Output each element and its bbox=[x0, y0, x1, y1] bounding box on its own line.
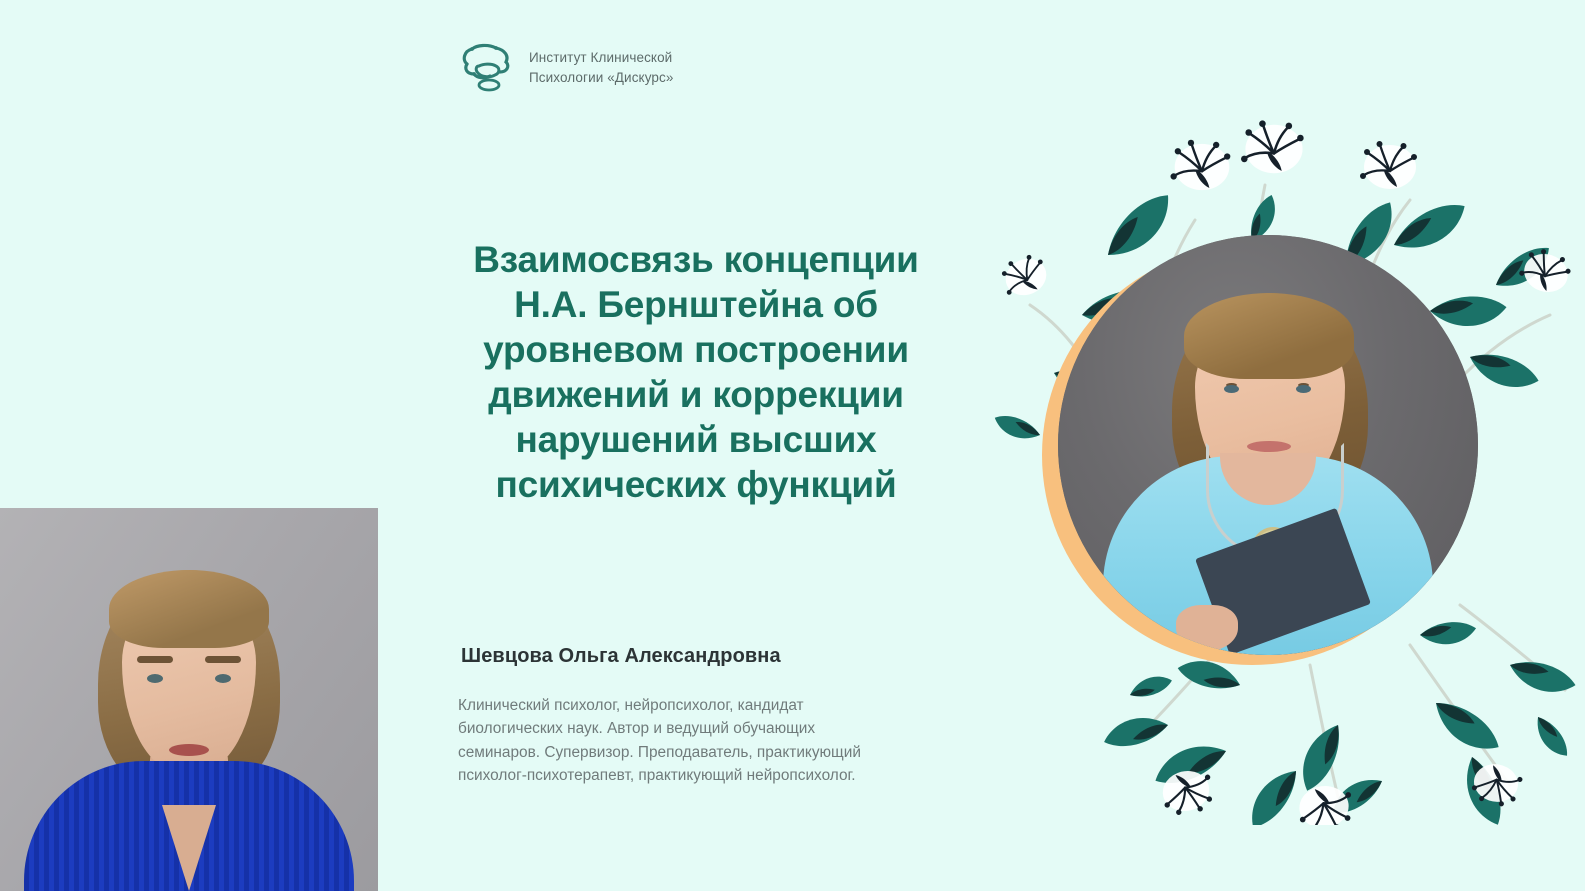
webcam-eyebrow-right bbox=[205, 656, 241, 663]
institute-logo-text: Институт Клинической Психологии «Дискурс… bbox=[529, 48, 673, 87]
portrait-eye-right bbox=[1296, 385, 1311, 393]
portrait-hand bbox=[1176, 605, 1238, 651]
slide-title: Взаимосвязь концепции Н.А. Бернштейна об… bbox=[398, 237, 994, 508]
webcam-mouth bbox=[169, 744, 209, 756]
webcam-eye-right bbox=[215, 674, 231, 683]
speaker-bio: Клинический психолог, нейропсихолог, кан… bbox=[458, 694, 1003, 788]
portrait-eye-left bbox=[1224, 385, 1239, 393]
portrait-fringe bbox=[1184, 293, 1354, 379]
presentation-slide: Институт Клинической Психологии «Дискурс… bbox=[0, 0, 1585, 891]
webcam-eye-left bbox=[147, 674, 163, 683]
webcam-fringe bbox=[109, 570, 269, 648]
webcam-video-overlay[interactable] bbox=[0, 508, 378, 891]
brain-outline-logo-icon bbox=[455, 42, 517, 94]
webcam-eyebrow-left bbox=[137, 656, 173, 663]
institute-logo: Институт Клинической Психологии «Дискурс… bbox=[455, 42, 673, 94]
speaker-portrait-decorated bbox=[990, 105, 1585, 825]
speaker-portrait-photo bbox=[1058, 235, 1478, 655]
speaker-name: Шевцова Ольга Александровна bbox=[461, 645, 1021, 668]
